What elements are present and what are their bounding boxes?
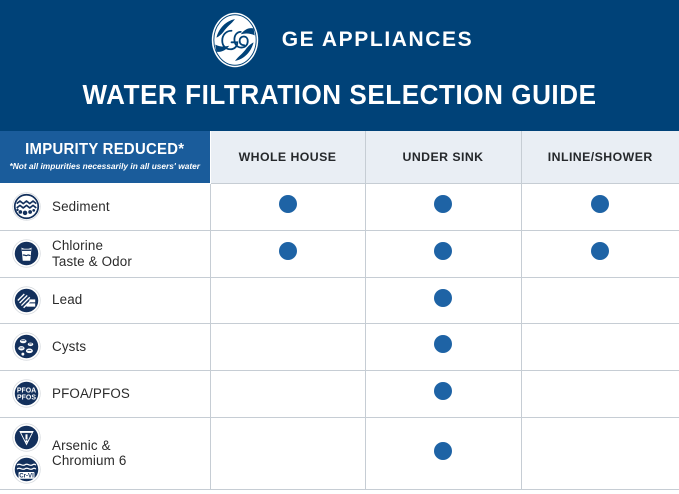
row-label-text: Sediment [52,199,110,215]
reduction-dot [434,335,452,353]
table-row: Chlorine Taste & Odor [0,230,679,277]
cell-lead-whole-house [210,277,365,323]
icon-stack [12,239,41,268]
table-row: Cysts [0,323,679,370]
arsenic-icon [12,423,41,452]
svg-text:PFOA: PFOA [17,387,36,394]
brand-name: GE APPLIANCES [282,28,474,52]
impurity-header-title: IMPURITY REDUCED* [10,141,200,159]
table-row: Lead [0,277,679,323]
icon-stack: Cr-VI [12,423,41,484]
icon-stack [12,286,41,315]
column-header-inline-shower: INLINE/SHOWER [521,131,679,183]
cell-chlorine-inline-shower [521,230,679,277]
impurity-header-footnote: *Not all impurities necessarily in all u… [9,161,201,171]
cell-pfoa-pfos-under-sink [365,370,521,417]
brand-banner: GE APPLIANCES WATER FILTRATION SELECTION… [0,0,679,131]
icon-stack: PFOA PFOS [12,379,41,408]
reduction-dot [434,442,452,460]
row-label-pfoa-pfos: PFOA PFOS PFOA/PFOS [0,370,210,417]
column-header-whole-house: WHOLE HOUSE [210,131,365,183]
cell-arsenic-chromium-under-sink [365,417,521,489]
cell-lead-inline-shower [521,277,679,323]
cell-arsenic-chromium-inline-shower [521,417,679,489]
reduction-dot [434,289,452,307]
cell-cysts-whole-house [210,323,365,370]
water-filtration-selection-guide: GE APPLIANCES WATER FILTRATION SELECTION… [0,0,679,494]
svg-text:Cr-VI: Cr-VI [19,472,34,479]
brand-row: GE APPLIANCES [0,10,679,70]
reduction-dot [434,242,452,260]
row-label-chlorine: Chlorine Taste & Odor [0,230,210,277]
cell-pfoa-pfos-whole-house [210,370,365,417]
page-title: WATER FILTRATION SELECTION GUIDE [24,79,655,111]
reduction-dot [434,195,452,213]
cell-chlorine-whole-house [210,230,365,277]
row-label-text: Chlorine Taste & Odor [52,238,132,269]
impurity-reduced-header: IMPURITY REDUCED* *Not all impurities ne… [0,131,210,183]
cell-sediment-under-sink [365,183,521,230]
cell-cysts-inline-shower [521,323,679,370]
table-row: Cr-VI Arsenic & Chromium 6 [0,417,679,489]
cell-chlorine-under-sink [365,230,521,277]
pfoa-pfos-icon: PFOA PFOS [12,379,41,408]
chromium-6-icon: Cr-VI [12,455,41,484]
table-body: Sediment [0,183,679,489]
chlorine-glass-icon [12,239,41,268]
reduction-dot [279,195,297,213]
reduction-dot [434,382,452,400]
cell-pfoa-pfos-inline-shower [521,370,679,417]
reduction-dot [591,242,609,260]
row-label-text: Cysts [52,339,86,355]
lead-icon [12,286,41,315]
icon-stack [12,192,41,221]
reduction-dot [591,195,609,213]
cell-sediment-whole-house [210,183,365,230]
cysts-icon [12,332,41,361]
icon-stack [12,332,41,361]
sediment-icon [12,192,41,221]
svg-text:PFOS: PFOS [17,395,36,402]
cell-sediment-inline-shower [521,183,679,230]
row-label-text: Lead [52,292,82,308]
row-label-arsenic-chromium: Cr-VI Arsenic & Chromium 6 [0,417,210,489]
cell-lead-under-sink [365,277,521,323]
row-label-cysts: Cysts [0,323,210,370]
reduction-dot [279,242,297,260]
row-label-text: Arsenic & Chromium 6 [52,438,126,469]
cell-cysts-under-sink [365,323,521,370]
table-row: Sediment [0,183,679,230]
table-header-row: IMPURITY REDUCED* *Not all impurities ne… [0,131,679,183]
row-label-sediment: Sediment [0,183,210,230]
filtration-matrix-table: IMPURITY REDUCED* *Not all impurities ne… [0,131,679,490]
column-header-under-sink: UNDER SINK [365,131,521,183]
cell-arsenic-chromium-whole-house [210,417,365,489]
row-label-text: PFOA/PFOS [52,386,130,402]
row-label-lead: Lead [0,277,210,323]
ge-monogram-icon [206,11,264,69]
table-row: PFOA PFOS PFOA/PFOS [0,370,679,417]
